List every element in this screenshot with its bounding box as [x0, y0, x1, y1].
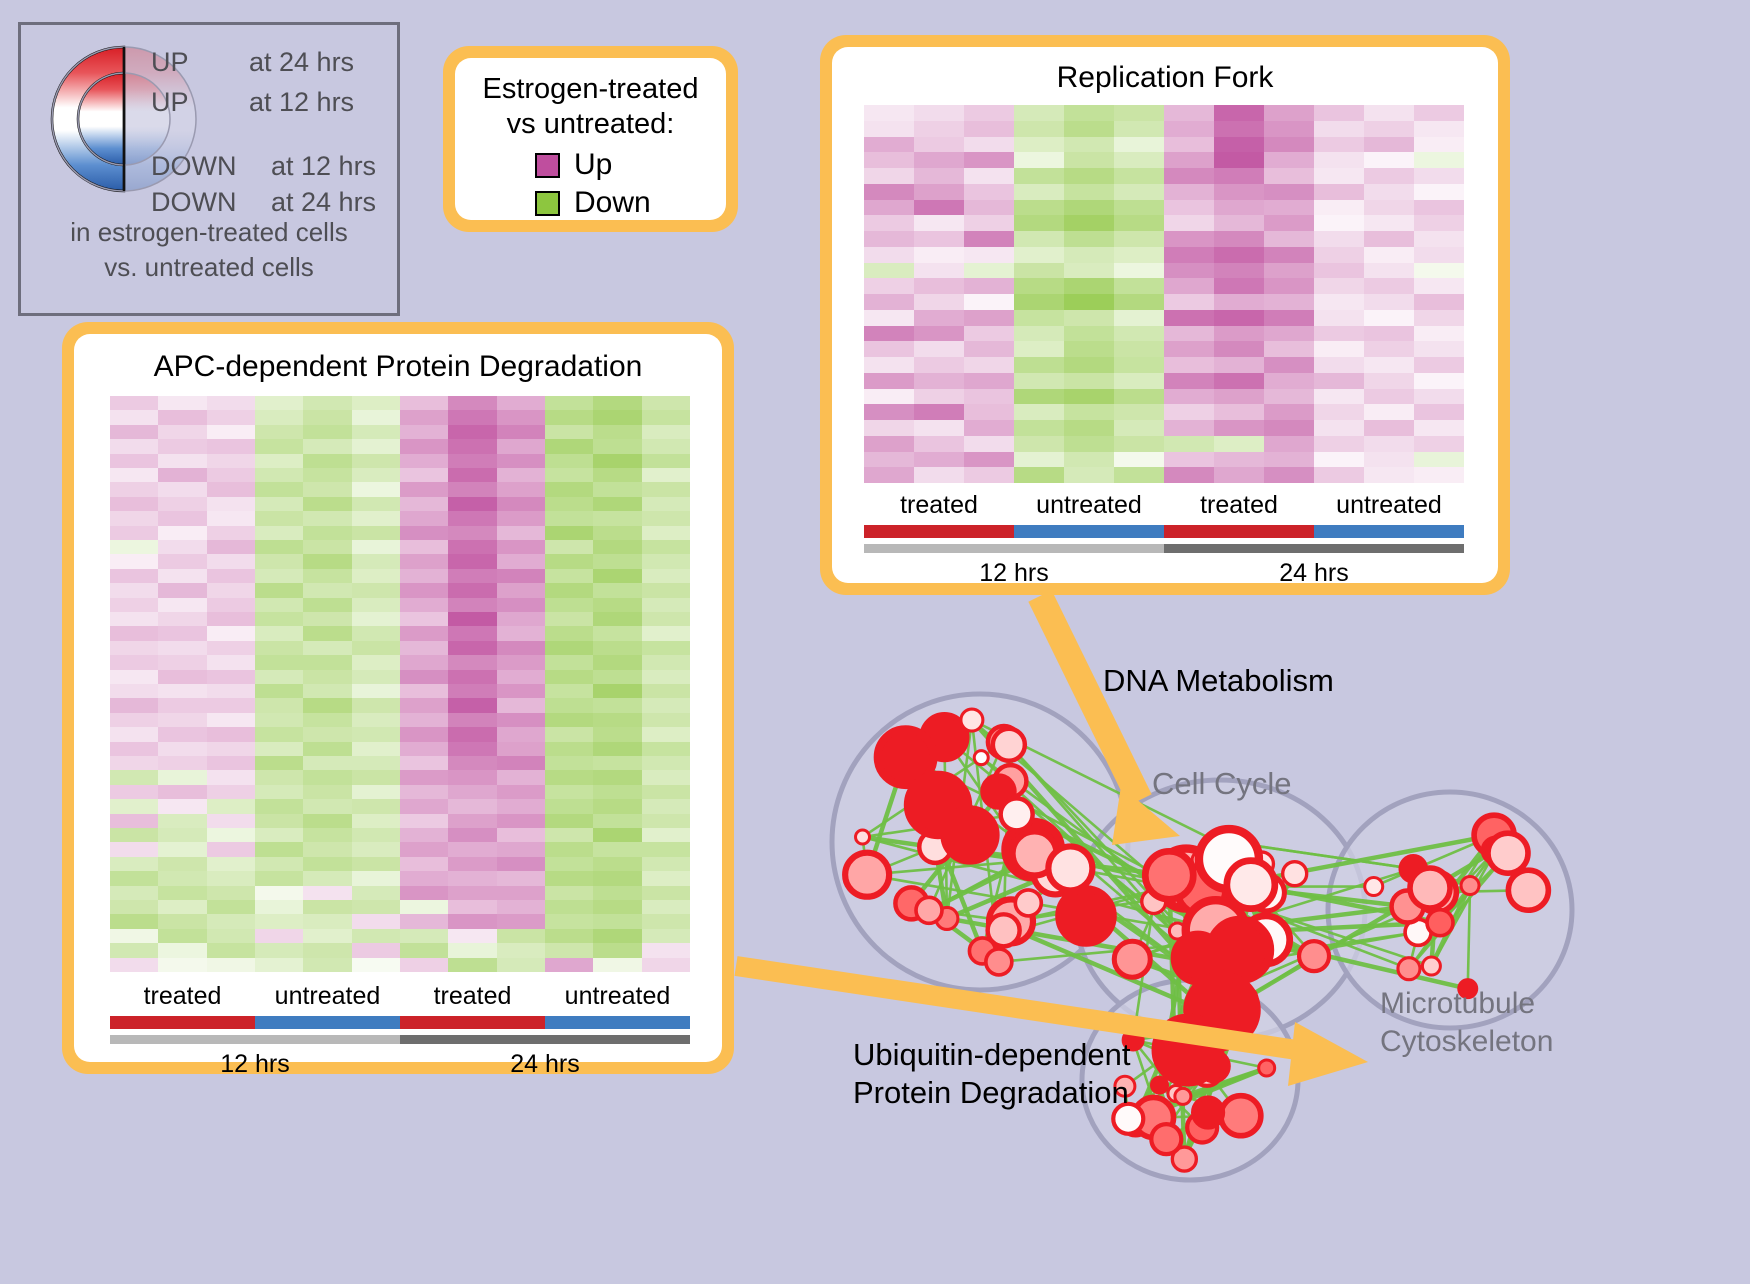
heatmap-cell	[497, 914, 545, 928]
heatmap-cell	[158, 583, 206, 597]
heatmap-cell	[1364, 278, 1414, 294]
heatmap-cell	[864, 215, 914, 231]
network-node[interactable]	[1398, 958, 1420, 980]
heatmap-cell	[497, 857, 545, 871]
heatmap-cell	[110, 958, 158, 972]
heatmap-cell	[497, 497, 545, 511]
network-node[interactable]	[1221, 1096, 1261, 1136]
heatmap-cell	[1114, 373, 1164, 389]
heatmap-cell	[255, 857, 303, 871]
heatmap-cell	[964, 215, 1014, 231]
heatmap-cell	[593, 857, 641, 871]
heatmap-cell	[448, 641, 496, 655]
heatmap-cell	[545, 914, 593, 928]
heatmap-cell	[1414, 341, 1464, 357]
heatmap-cell	[642, 482, 690, 496]
heatmap-cell	[593, 540, 641, 554]
network-node[interactable]	[961, 709, 983, 731]
heatmap-cell	[1164, 278, 1214, 294]
replication-fork-title: Replication Fork	[832, 61, 1498, 95]
heatmap-cell	[1164, 373, 1214, 389]
heatmap-cell	[207, 626, 255, 640]
heatmap-cell	[1264, 247, 1314, 263]
heatmap-cell	[448, 540, 496, 554]
heatmap-cell	[1414, 105, 1464, 121]
heatmap-cell	[545, 626, 593, 640]
heatmap-cell	[497, 756, 545, 770]
heatmap-cell	[158, 396, 206, 410]
heatmap-cell	[593, 497, 641, 511]
heatmap-cell	[352, 612, 400, 626]
heatmap-cell	[1264, 373, 1314, 389]
heatmap-cell	[1264, 467, 1314, 483]
heatmap-cell	[1114, 152, 1164, 168]
heatmap-cell	[593, 929, 641, 943]
heatmap-cell	[255, 569, 303, 583]
heatmap-cell	[158, 598, 206, 612]
heatmap-cell	[1164, 184, 1214, 200]
heatmap-cell	[914, 184, 964, 200]
heatmap-cell	[642, 626, 690, 640]
heatmap-cell	[303, 713, 351, 727]
heatmap-cell	[1264, 326, 1314, 342]
heatmap-cell	[110, 439, 158, 453]
heatmap-cell	[1114, 231, 1164, 247]
heatmap-cell	[110, 814, 158, 828]
condition-bar-treated-12	[864, 525, 1014, 538]
heatmap-cell	[110, 742, 158, 756]
heatmap-cell	[914, 278, 964, 294]
heatmap-cell	[303, 497, 351, 511]
heatmap-cell	[642, 914, 690, 928]
heatmap-cell	[1414, 184, 1464, 200]
pathway-network-diagram: DNA Metabolism Cell Cycle Microtubule Cy…	[770, 620, 1750, 1279]
heatmap-cell	[110, 929, 158, 943]
heatmap-cell	[352, 396, 400, 410]
heatmap-cell	[352, 569, 400, 583]
heatmap-cell	[255, 770, 303, 784]
heatmap-cell	[158, 641, 206, 655]
heatmap-cell	[303, 540, 351, 554]
heatmap-cell	[448, 929, 496, 943]
heatmap-cell	[207, 943, 255, 957]
heatmap-cell	[864, 310, 914, 326]
heatmap-cell	[158, 569, 206, 583]
heatmap-cell	[593, 842, 641, 856]
heatmap-cell	[207, 727, 255, 741]
heatmap-cell	[255, 641, 303, 655]
network-node[interactable]	[1001, 798, 1033, 830]
heatmap-cell	[400, 425, 448, 439]
network-node[interactable]	[1410, 868, 1450, 908]
heatmap-cell	[303, 756, 351, 770]
cluster-label-cell-cycle: Cell Cycle	[1152, 766, 1292, 802]
heatmap-cell	[255, 742, 303, 756]
heatmap-cell	[1114, 247, 1164, 263]
heatmap-cell	[593, 828, 641, 842]
network-node[interactable]	[1114, 941, 1150, 977]
heatmap-cell	[642, 871, 690, 885]
heatmap-cell	[207, 698, 255, 712]
heatmap-cell	[642, 814, 690, 828]
heatmap-cell	[497, 929, 545, 943]
heatmap-cell	[1164, 452, 1214, 468]
network-node[interactable]	[1422, 957, 1440, 975]
heatmap-cell	[1064, 341, 1114, 357]
heatmap-cell	[497, 799, 545, 813]
heatmap-cell	[1014, 168, 1064, 184]
heatmap-cell	[1064, 373, 1114, 389]
heatmap-cell	[642, 554, 690, 568]
condition-bar-untreated-24	[545, 1016, 690, 1029]
heatmap-cell	[545, 497, 593, 511]
heatmap-cell	[158, 886, 206, 900]
heatmap-cell	[1414, 467, 1464, 483]
network-node[interactable]	[1151, 1077, 1167, 1093]
heatmap-cell	[1014, 152, 1064, 168]
heatmap-cell	[1114, 294, 1164, 310]
heatmap-cell	[1214, 404, 1264, 420]
heatmap-cell	[448, 958, 496, 972]
time-bar-12hrs	[864, 544, 1164, 553]
network-node[interactable]	[1427, 910, 1453, 936]
network-node[interactable]	[1508, 870, 1548, 910]
heatmap-cell	[303, 554, 351, 568]
heatmap-cell	[158, 929, 206, 943]
heatmap-cell	[914, 436, 964, 452]
heatmap-cell	[914, 310, 964, 326]
heatmap-cell	[593, 742, 641, 756]
condition-bar-untreated-12	[255, 1016, 400, 1029]
network-node[interactable]	[1193, 1098, 1223, 1128]
heatmap-cell	[1314, 452, 1364, 468]
heatmap-cell	[448, 886, 496, 900]
heatmap-cell	[1214, 373, 1264, 389]
heatmap-cell	[207, 756, 255, 770]
heatmap-cell	[642, 468, 690, 482]
heatmap-cell	[864, 121, 914, 137]
apc-condition-bar	[110, 1016, 690, 1029]
heatmap-cell	[1264, 263, 1314, 279]
heatmap-cell	[1064, 294, 1114, 310]
heatmap-cell	[110, 828, 158, 842]
heatmap-cell	[914, 389, 964, 405]
heatmap-cell	[352, 425, 400, 439]
network-node[interactable]	[1227, 861, 1275, 909]
heatmap-cell	[207, 468, 255, 482]
group-label-untreated-24: untreated	[1314, 491, 1464, 520]
apc-time-labels: 12 hrs 24 hrs	[110, 1050, 690, 1079]
heatmap-cell	[1364, 247, 1414, 263]
heatmap-cell	[207, 641, 255, 655]
heatmap-cell	[1414, 294, 1464, 310]
network-node[interactable]	[993, 729, 1025, 761]
heatmap-cell	[1064, 200, 1114, 216]
cluster-label-microtubule-line2: Cytoskeleton	[1380, 1023, 1553, 1061]
heatmap-cell	[255, 511, 303, 525]
heatmap-cell	[1114, 404, 1164, 420]
network-node[interactable]	[1145, 851, 1193, 899]
heatmap-cell	[864, 200, 914, 216]
time-label-24hrs: 24 hrs	[400, 1050, 690, 1079]
network-node[interactable]	[988, 914, 1020, 946]
heatmap-cell	[593, 958, 641, 972]
heatmap-cell	[593, 698, 641, 712]
heatmap-cell	[303, 943, 351, 957]
heatmap-cell	[1364, 231, 1414, 247]
heatmap-cell	[352, 410, 400, 424]
condition-bar-treated-24	[400, 1016, 545, 1029]
heatmap-cell	[255, 958, 303, 972]
heatmap-cell	[593, 554, 641, 568]
network-node[interactable]	[1151, 1124, 1181, 1154]
heatmap-cell	[158, 900, 206, 914]
heatmap-cell	[593, 670, 641, 684]
heatmap-cell	[593, 396, 641, 410]
heatmap-cell	[914, 215, 964, 231]
heatmap-cell	[1064, 389, 1114, 405]
heatmap-cell	[545, 425, 593, 439]
replication-fork-time-bar	[864, 544, 1464, 553]
heatmap-cell	[1314, 247, 1364, 263]
heatmap-cell	[352, 713, 400, 727]
heatmap-cell	[1214, 105, 1264, 121]
heatmap-cell	[497, 871, 545, 885]
heatmap-cell	[400, 886, 448, 900]
heatmap-cell	[1064, 137, 1114, 153]
heatmap-cell	[255, 684, 303, 698]
heatmap-cell	[593, 641, 641, 655]
heatmap-cell	[497, 713, 545, 727]
heatmap-cell	[448, 756, 496, 770]
heatmap-cell	[207, 497, 255, 511]
heatmap-cell	[110, 468, 158, 482]
heatmap-cell	[158, 914, 206, 928]
heatmap-cell	[593, 756, 641, 770]
heatmap-cell	[914, 105, 964, 121]
heatmap-cell	[1414, 200, 1464, 216]
heatmap-cell	[914, 200, 964, 216]
heatmap-cell	[207, 655, 255, 669]
heatmap-cell	[1364, 168, 1414, 184]
network-node[interactable]	[974, 751, 988, 765]
legend-title-line1: Estrogen-treated	[482, 73, 698, 105]
heatmap-cell	[1014, 200, 1064, 216]
network-node[interactable]	[856, 830, 870, 844]
heatmap-cell	[158, 526, 206, 540]
heatmap-cell	[1014, 357, 1064, 373]
network-node[interactable]	[1283, 862, 1307, 886]
key-time-down-12: at 12 hrs	[271, 151, 376, 182]
heatmap-cell	[964, 200, 1014, 216]
heatmap-cell	[448, 497, 496, 511]
heatmap-cell	[303, 684, 351, 698]
heatmap-cell	[400, 641, 448, 655]
heatmap-cell	[400, 842, 448, 856]
heatmap-cell	[400, 626, 448, 640]
heatmap-cell	[642, 770, 690, 784]
heatmap-cell	[545, 511, 593, 525]
heatmap-cell	[1264, 137, 1314, 153]
cluster-label-ubiquitin-degradation: Ubiquitin-dependent Protein Degradation	[853, 1036, 1131, 1112]
network-node[interactable]	[944, 809, 996, 861]
heatmap-cell	[158, 410, 206, 424]
heatmap-cell	[110, 684, 158, 698]
heatmap-cell	[545, 698, 593, 712]
heatmap-cell	[1364, 184, 1414, 200]
heatmap-cell	[593, 439, 641, 453]
heatmap-cell	[497, 396, 545, 410]
network-node[interactable]	[1048, 846, 1092, 890]
network-node[interactable]	[1299, 941, 1329, 971]
heatmap-cell	[593, 770, 641, 784]
network-node[interactable]	[845, 853, 889, 897]
heatmap-cell	[400, 583, 448, 597]
heatmap-cell	[158, 554, 206, 568]
heatmap-cell	[914, 373, 964, 389]
heatmap-cell	[642, 583, 690, 597]
heatmap-cell	[400, 756, 448, 770]
network-node[interactable]	[1259, 1060, 1275, 1076]
replication-fork-inner: Replication Fork treated untreated treat…	[832, 47, 1498, 583]
heatmap-cell	[1314, 420, 1364, 436]
heatmap-cell	[964, 294, 1014, 310]
heatmap-cell	[964, 105, 1014, 121]
heatmap-cell	[1014, 326, 1064, 342]
heatmap-cell	[497, 900, 545, 914]
heatmap-cell	[448, 554, 496, 568]
heatmap-cell	[303, 454, 351, 468]
heatmap-cell	[158, 727, 206, 741]
heatmap-cell	[593, 900, 641, 914]
heatmap-cell	[964, 436, 1014, 452]
heatmap-cell	[448, 468, 496, 482]
heatmap-cell	[914, 357, 964, 373]
heatmap-cell	[400, 727, 448, 741]
network-node[interactable]	[916, 897, 942, 923]
heatmap-cell	[110, 900, 158, 914]
heatmap-cell	[1314, 326, 1364, 342]
heatmap-cell	[1214, 436, 1264, 452]
heatmap-cell	[1264, 404, 1314, 420]
network-node[interactable]	[1461, 877, 1479, 895]
network-node[interactable]	[1365, 878, 1383, 896]
heatmap-cell	[642, 540, 690, 554]
heatmap-cell	[1064, 357, 1114, 373]
heatmap-cell	[1414, 263, 1464, 279]
heatmap-cell	[1264, 357, 1314, 373]
network-node[interactable]	[1175, 1088, 1191, 1104]
heatmap-cell	[497, 612, 545, 626]
heatmap-cell	[400, 454, 448, 468]
heatmap-cell	[303, 670, 351, 684]
heatmap-cell	[110, 727, 158, 741]
heatmap-cell	[207, 900, 255, 914]
heatmap-cell	[400, 612, 448, 626]
heatmap-cell	[497, 526, 545, 540]
heatmap-cell	[303, 742, 351, 756]
heatmap-cell	[303, 569, 351, 583]
heatmap-cell	[1114, 105, 1164, 121]
heatmap-cell	[1014, 436, 1064, 452]
heatmap-cell	[864, 389, 914, 405]
heatmap-cell	[303, 526, 351, 540]
heatmap-cell	[448, 425, 496, 439]
heatmap-cell	[352, 914, 400, 928]
heatmap-cell	[110, 569, 158, 583]
heatmap-cell	[864, 247, 914, 263]
heatmap-cell	[255, 670, 303, 684]
heatmap-cell	[1314, 137, 1364, 153]
network-node[interactable]	[1488, 833, 1528, 873]
heatmap-cell	[1364, 341, 1414, 357]
heatmap-cell	[1264, 310, 1314, 326]
heatmap-cell	[642, 785, 690, 799]
heatmap-cell	[207, 871, 255, 885]
heatmap-cell	[1364, 263, 1414, 279]
heatmap-cell	[964, 278, 1014, 294]
heatmap-cell	[864, 105, 914, 121]
heatmap-cell	[914, 404, 964, 420]
heatmap-cell	[1214, 310, 1264, 326]
heatmap-cell	[642, 857, 690, 871]
heatmap-cell	[303, 439, 351, 453]
heatmap-cell	[1114, 310, 1164, 326]
heatmap-cell	[1314, 294, 1364, 310]
heatmap-cell	[593, 727, 641, 741]
heatmap-cell	[352, 742, 400, 756]
heatmap-cell	[303, 511, 351, 525]
heatmap-cell	[448, 842, 496, 856]
heatmap-cell	[593, 454, 641, 468]
heatmap-cell	[964, 341, 1014, 357]
heatmap-cell	[1164, 105, 1214, 121]
network-node[interactable]	[986, 949, 1012, 975]
heatmap-cell	[864, 263, 914, 279]
heatmap-cell	[593, 482, 641, 496]
heatmap-cell	[1114, 200, 1164, 216]
network-node[interactable]	[1059, 889, 1113, 943]
heatmap-cell	[1214, 215, 1264, 231]
network-node[interactable]	[1156, 1018, 1220, 1082]
network-node[interactable]	[1015, 890, 1041, 916]
heatmap-cell	[207, 540, 255, 554]
heatmap-cell	[1014, 404, 1064, 420]
heatmap-cell	[1264, 215, 1314, 231]
heatmap-cell	[110, 914, 158, 928]
heatmap-cell	[497, 439, 545, 453]
heatmap-cell	[864, 278, 914, 294]
heatmap-cell	[448, 871, 496, 885]
apc-degradation-inner: APC-dependent Protein Degradation treate…	[74, 334, 722, 1062]
heatmap-cell	[497, 886, 545, 900]
heatmap-cell	[1014, 278, 1064, 294]
heatmap-cell	[255, 439, 303, 453]
heatmap-cell	[158, 828, 206, 842]
heatmap-cell	[1264, 152, 1314, 168]
heatmap-cell	[1214, 326, 1264, 342]
heatmap-cell	[207, 684, 255, 698]
heatmap-cell	[1214, 152, 1264, 168]
heatmap-cell	[255, 929, 303, 943]
heatmap-cell	[593, 410, 641, 424]
heatmap-cell	[864, 184, 914, 200]
heatmap-cell	[352, 886, 400, 900]
heatmap-cell	[1264, 121, 1314, 137]
legend-title: Estrogen-treated vs untreated:	[455, 72, 726, 143]
heatmap-cell	[158, 425, 206, 439]
heatmap-cell	[255, 842, 303, 856]
